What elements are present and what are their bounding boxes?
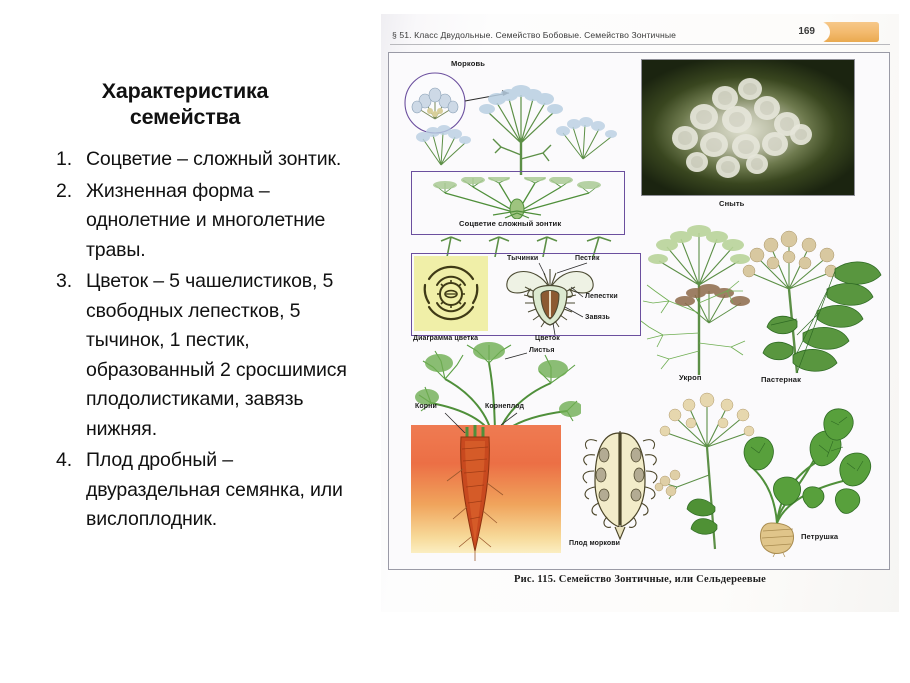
label-parsley: Петрушка: [801, 532, 838, 541]
text-panel: Характеристика семейства 1. Соцветие – с…: [0, 0, 372, 683]
carrot-inflorescence-art: [397, 67, 637, 177]
list-item-text: Плод дробный – двураздельная семянка, ил…: [86, 449, 343, 530]
label-compound-umbel: Соцветие сложный зонтик: [459, 219, 561, 228]
compound-umbel-art: [419, 177, 615, 219]
goutweed-photo: [641, 59, 855, 196]
label-goutweed: Сныть: [719, 199, 744, 208]
list-item-text: Цветок – 5 чашелистиков, 5 свободных леп…: [86, 270, 347, 440]
section-header-text: § 51. Класс Двудольные. Семейство Бобовы…: [392, 30, 676, 40]
figure-caption: Рис. 115. Семейство Зонтичные, или Сельд…: [381, 574, 899, 585]
label-carrot-fruit: Плод моркови: [569, 540, 620, 547]
parsnip-art: [741, 223, 885, 378]
carrot-root-art: [441, 411, 521, 561]
flower-leader-lines: [495, 253, 615, 345]
list-item: 2. Жизненная форма – однолетние и многол…: [44, 177, 364, 266]
list-item-number: 2.: [56, 177, 80, 207]
carrot-leader-lines: [409, 343, 579, 433]
textbook-page-image: растение двулетнее, в первый год образуе…: [381, 14, 899, 612]
page-tab-decoration: [817, 22, 879, 42]
page-title-line1: Характеристика: [40, 78, 330, 104]
characteristics-list: 1. Соцветие – сложный зонтик. 2. Жизненн…: [44, 145, 364, 537]
page-title-line2: семейства: [40, 104, 330, 130]
label-parsnip: Пастернак: [761, 375, 801, 384]
book-header: § 51. Класс Двудольные. Семейство Бобовы…: [387, 30, 893, 46]
slide-root: Характеристика семейства 1. Соцветие – с…: [0, 0, 910, 683]
page-number: 169: [798, 26, 815, 37]
parsley-plant-art: [719, 405, 879, 557]
list-item: 3. Цветок – 5 чашелистиков, 5 свободных …: [44, 267, 364, 444]
label-dill: Укроп: [679, 373, 702, 382]
list-item-number: 4.: [56, 446, 80, 476]
list-item: 4. Плод дробный – двураздельная семянка,…: [44, 446, 364, 535]
list-item-number: 1.: [56, 145, 80, 175]
list-item-text: Соцветие – сложный зонтик.: [86, 148, 341, 170]
flower-diagram-art: [419, 259, 483, 327]
list-item: 1. Соцветие – сложный зонтик.: [44, 145, 364, 175]
figure-frame: Морковь: [388, 52, 890, 570]
page-title: Характеристика семейства: [40, 78, 330, 130]
list-item-number: 3.: [56, 267, 80, 297]
header-divider: [390, 44, 890, 45]
list-item-text: Жизненная форма – однолетние и многолетн…: [86, 180, 325, 261]
